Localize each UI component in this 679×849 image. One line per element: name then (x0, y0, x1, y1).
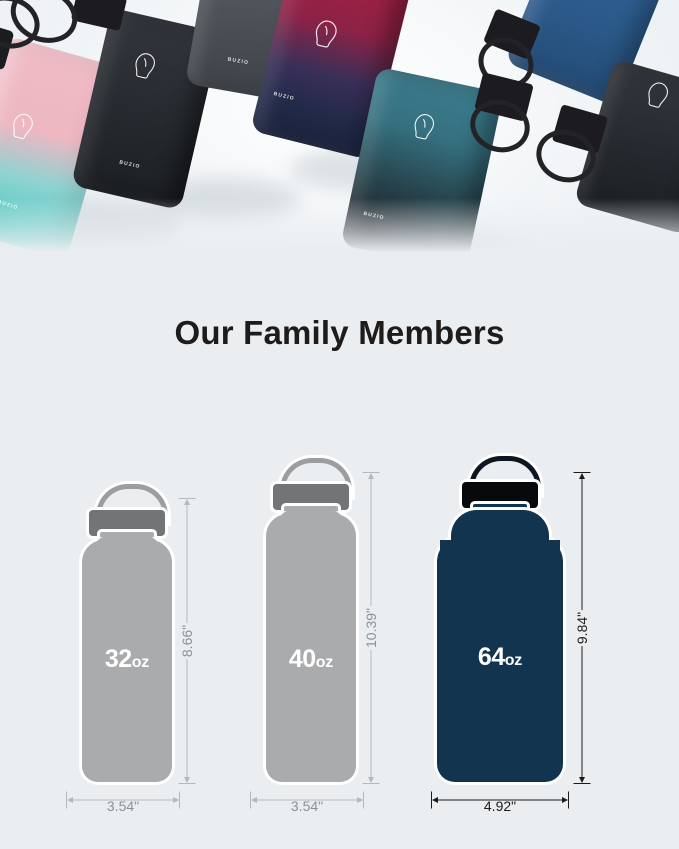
height-dimension-64oz: 9.84" (572, 472, 592, 784)
arrow-down-icon (579, 777, 585, 783)
size-comparison-section: 32oz 8.66" 3.54" (0, 440, 679, 840)
volume-label-64oz: 64oz (437, 643, 563, 672)
height-dimension-40oz: 10.39" (361, 472, 381, 784)
volume-number: 64 (478, 643, 505, 671)
dimension-tick-bottom (574, 783, 591, 784)
arrow-left-icon (67, 797, 73, 803)
volume-unit: oz (505, 652, 522, 669)
arrow-up-icon (184, 499, 190, 505)
arrow-right-icon (173, 797, 179, 803)
volume-unit: oz (132, 654, 149, 671)
volume-unit: oz (316, 654, 333, 671)
volume-label-40oz: 40oz (266, 645, 356, 674)
volume-label-32oz: 32oz (82, 645, 172, 674)
dimension-tick-right (568, 792, 569, 809)
width-dimension-32oz: 3.54" (66, 790, 180, 810)
arrow-up-icon (579, 473, 585, 479)
height-label-32oz: 8.66" (176, 623, 198, 659)
width-dimension-40oz: 3.54" (250, 790, 364, 810)
arrow-right-icon (562, 797, 568, 803)
height-label-40oz: 10.39" (360, 606, 382, 650)
dimension-tick-right (179, 792, 180, 809)
bottle-shoulder-32oz (94, 536, 160, 560)
arrow-left-icon (251, 797, 257, 803)
width-dimension-64oz: 4.92" (431, 790, 569, 810)
height-label-64oz: 9.84" (571, 610, 593, 646)
arrow-up-icon (368, 473, 374, 479)
bottle-shoulder-fill-64oz (440, 540, 560, 570)
dimension-tick-bottom (363, 783, 380, 784)
arrow-right-icon (357, 797, 363, 803)
product-photo-banner: BUZIO BUZIO BUZIO (0, 0, 679, 268)
page-title: Our Family Members (0, 314, 679, 352)
infographic-page: BUZIO BUZIO BUZIO (0, 0, 679, 849)
volume-number: 32 (105, 645, 132, 673)
height-dimension-32oz: 8.66" (177, 498, 197, 784)
width-label-32oz: 3.54" (107, 798, 139, 814)
width-label-64oz: 4.92" (484, 798, 516, 814)
bottle-shoulder-40oz (278, 510, 344, 534)
width-label-40oz: 3.54" (291, 798, 323, 814)
arrow-left-icon (432, 797, 438, 803)
arrow-down-icon (184, 777, 190, 783)
dimension-tick-bottom (179, 783, 196, 784)
volume-number: 40 (289, 645, 316, 673)
dimension-tick-right (363, 792, 364, 809)
photo-fade-overlay (0, 198, 679, 268)
arrow-down-icon (368, 777, 374, 783)
